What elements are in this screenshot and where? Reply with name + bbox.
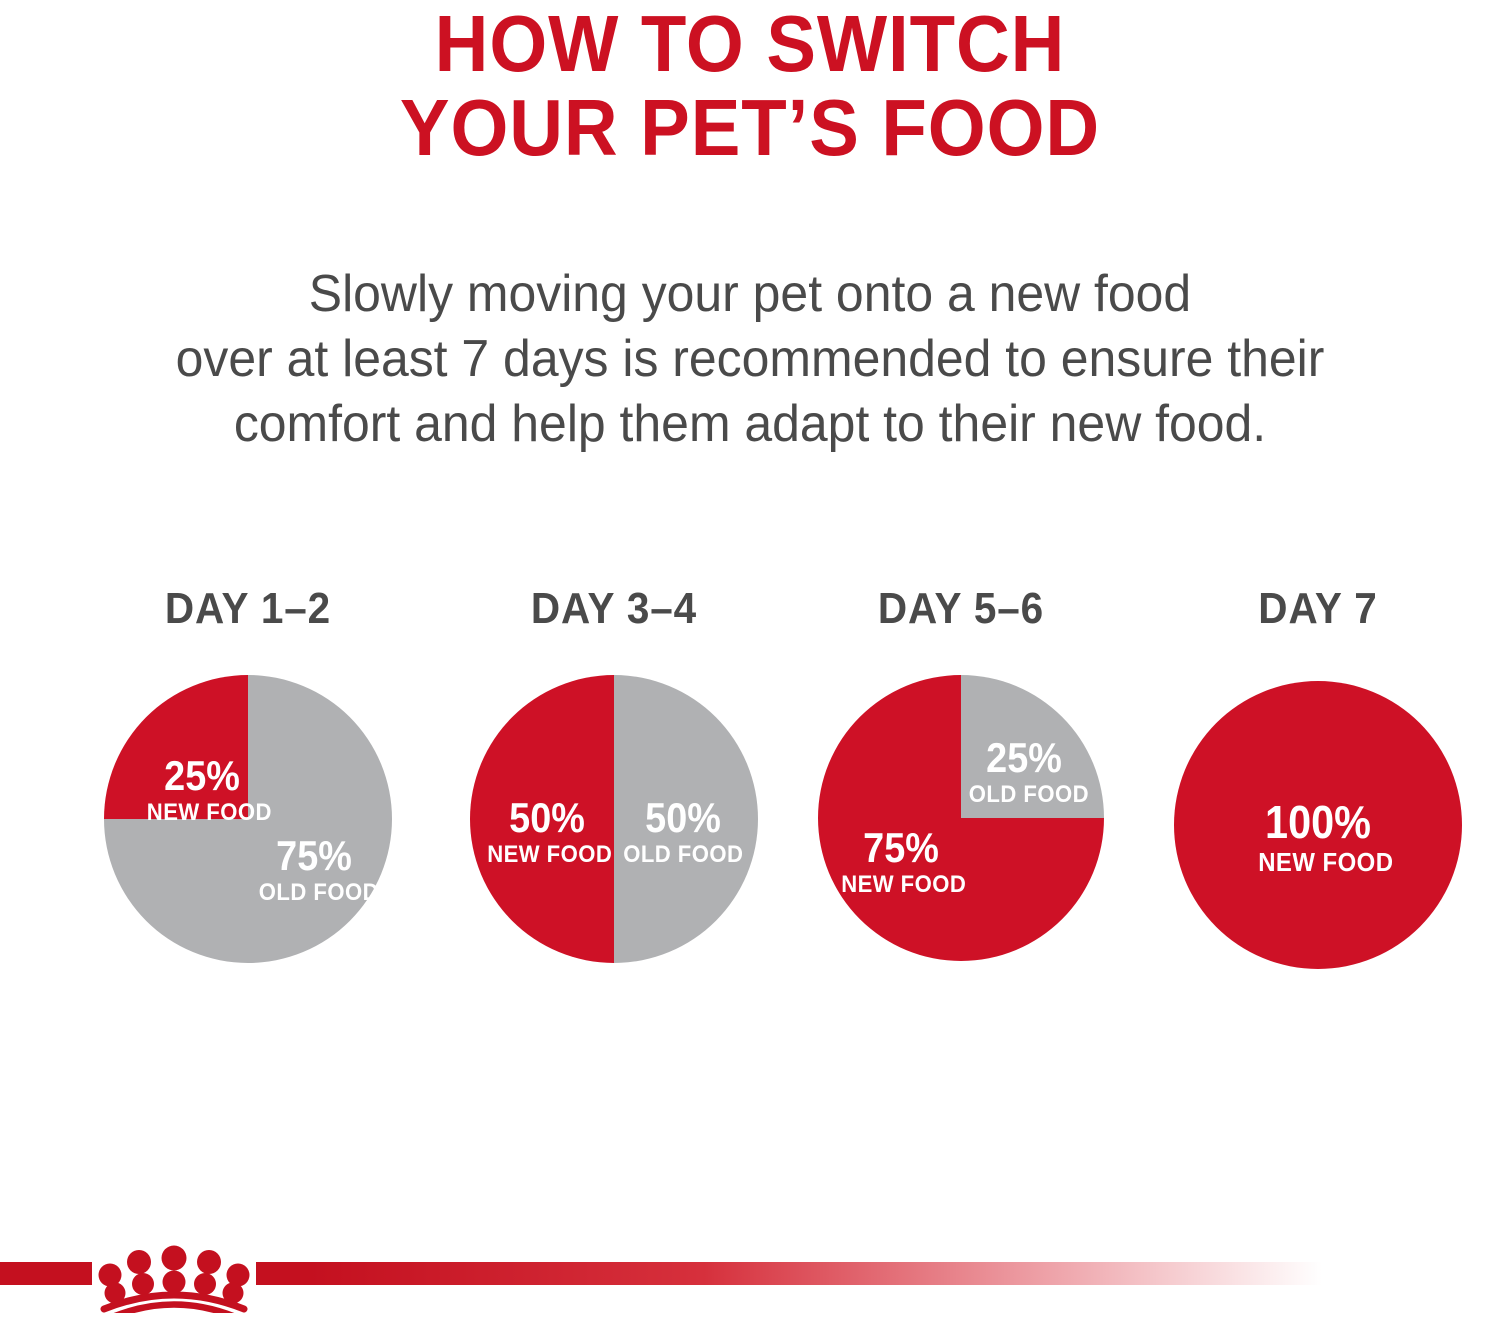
pie-slice-old-food [614,675,758,963]
pie-slice-new-food [1174,681,1462,969]
crown-logo-svg [88,1245,260,1313]
pie-slice-new-food [470,675,614,963]
pie-chart-day-7: 100% NEW FOOD [1174,681,1462,969]
footer-rule-left [0,1262,92,1285]
step-label-day-5-6: DAY 5–6 [829,585,1092,633]
intro-line-2: over at least 7 days is recommended to e… [30,327,1470,392]
step-day-1-2: DAY 1–2 25% NEW FOOD 75% OLD FOOD [104,585,392,963]
footer-brand-bar [0,1245,1500,1313]
step-label-day-3-4: DAY 3–4 [482,585,747,633]
title-line-2: YOUR PET’S FOOD [53,86,1448,170]
transition-schedule: DAY 1–2 25% NEW FOOD 75% OLD FOOD DAY 3–… [0,585,1500,985]
step-day-7: DAY 7 100% NEW FOOD [1174,585,1462,969]
step-day-5-6: DAY 5–6 25% OLD FOOD 75% NEW FOOD [818,585,1104,961]
intro-line-3: comfort and help them adapt to their new… [30,392,1470,457]
pie-chart-day-1-2: 25% NEW FOOD 75% OLD FOOD [104,675,392,963]
pie-svg-day-7 [1174,681,1462,969]
pie-svg-day-3-4 [470,675,758,963]
title-line-1: HOW TO SWITCH [53,2,1448,86]
pie-svg-day-5-6 [818,675,1104,961]
step-label-day-1-2: DAY 1–2 [116,585,381,633]
pie-slice-new-food [104,675,248,819]
intro-line-1: Slowly moving your pet onto a new food [30,262,1470,327]
intro-paragraph: Slowly moving your pet onto a new food o… [0,262,1500,457]
royal-canin-crown-icon [88,1245,260,1313]
pie-chart-day-5-6: 25% OLD FOOD 75% NEW FOOD [818,675,1104,961]
pie-slice-old-food [961,675,1104,818]
step-label-day-7: DAY 7 [1186,585,1451,633]
footer-rule-right [256,1262,1322,1285]
pie-svg-day-1-2 [104,675,392,963]
step-day-3-4: DAY 3–4 50% NEW FOOD 50% OLD FOOD [470,585,758,963]
page-title: HOW TO SWITCH YOUR PET’S FOOD [0,2,1500,170]
pie-chart-day-3-4: 50% NEW FOOD 50% OLD FOOD [470,675,758,963]
